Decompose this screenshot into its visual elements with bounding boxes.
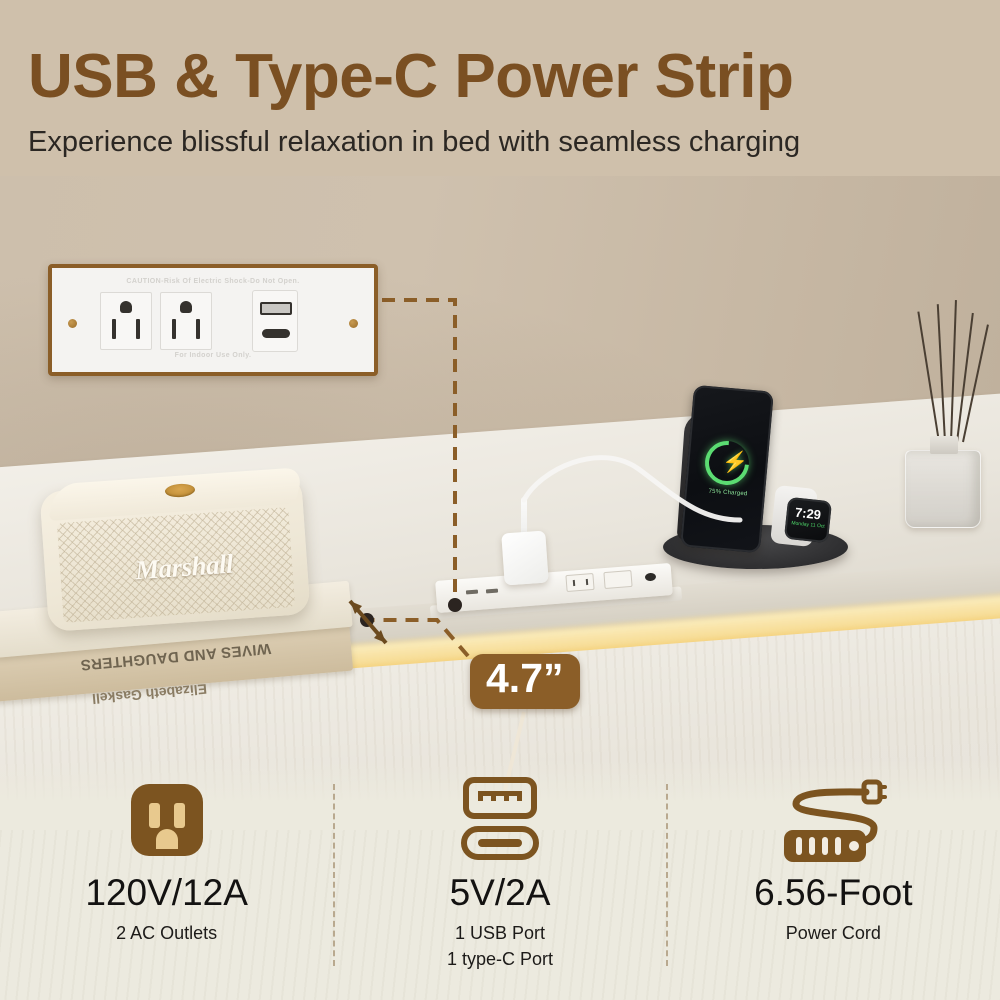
strip-outlet <box>603 570 632 589</box>
usb-ports-icon <box>452 772 548 868</box>
dimension-badge: 4.7” <box>470 654 580 709</box>
smartwatch-time: 7:29 <box>788 505 827 522</box>
caution-text: CAUTION-Risk Of Electric Shock-Do Not Op… <box>52 278 374 285</box>
blade-slot-right <box>196 319 200 339</box>
strip-outlet-slot <box>586 579 588 585</box>
blade-slot-left <box>112 319 116 339</box>
feature-row: 120V/12A 2 AC Outlets 5V/2A 1 USB Port 1… <box>0 762 1000 1000</box>
feature-title: 5V/2A <box>450 874 551 913</box>
wall-charger-adapter <box>501 531 549 586</box>
feature-subtitle-line: 1 type-C Port <box>447 946 553 972</box>
strip-outlet <box>565 573 594 592</box>
power-cord-icon <box>778 772 888 868</box>
ac-outlet-icon <box>126 772 208 868</box>
strip-outlet-slot <box>573 580 575 586</box>
feature-subtitle-line: 1 USB Port <box>447 920 553 946</box>
lightning-bolt-icon: ⚡ <box>721 451 749 474</box>
header-band: USB & Type-C Power Strip Experience blis… <box>0 0 1000 176</box>
reed-diffuser <box>905 450 981 528</box>
mounting-screw-left <box>68 319 77 328</box>
feature-title: 6.56-Foot <box>754 874 912 913</box>
power-strip-closeup-panel: CAUTION-Risk Of Electric Shock-Do Not Op… <box>48 264 378 376</box>
closeup-usb-port-group <box>252 290 298 352</box>
usb-c-port-icon <box>262 329 290 338</box>
feature-subtitle: 2 AC Outlets <box>116 920 217 946</box>
feature-usb-ports: 5V/2A 1 USB Port 1 type-C Port <box>333 762 666 1000</box>
feature-ac-outlets: 120V/12A 2 AC Outlets <box>0 762 333 1000</box>
blade-slot-left <box>172 319 176 339</box>
page-subtitle: Experience blissful relaxation in bed wi… <box>28 128 800 157</box>
closeup-ac-outlet <box>160 292 212 350</box>
ground-pin-hole <box>180 301 192 313</box>
ground-pin-hole <box>120 301 132 313</box>
indoor-use-text: For Indoor Use Only. <box>52 352 374 359</box>
mounting-screw-right <box>349 319 358 328</box>
feature-subtitle: 1 USB Port 1 type-C Port <box>447 920 553 972</box>
blade-slot-right <box>136 319 140 339</box>
closeup-ac-outlet <box>100 292 152 350</box>
feature-title: 120V/12A <box>85 874 248 913</box>
feature-subtitle: Power Cord <box>786 920 881 946</box>
feature-power-cord: 6.56-Foot Power Cord <box>667 762 1000 1000</box>
usb-a-port-icon <box>260 302 292 315</box>
page-title: USB & Type-C Power Strip <box>28 46 793 108</box>
infographic-stage: WIVES AND DAUGHTERS Elizabeth Gaskell Ma… <box>0 0 1000 1000</box>
diffuser-neck <box>930 436 958 454</box>
